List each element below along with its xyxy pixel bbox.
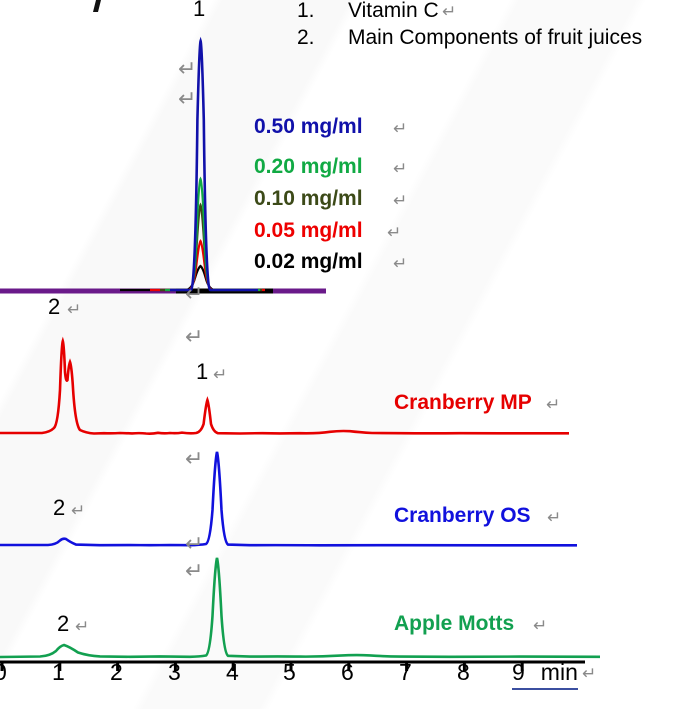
paragraph-mark-icon: ↵ xyxy=(213,366,227,383)
paragraph-mark-icon: ↵ xyxy=(185,326,203,348)
x-axis-unit-group: 9min xyxy=(512,661,578,690)
x-tick-label-8: 8 xyxy=(457,661,470,684)
x-tick-label-1: 1 xyxy=(52,661,65,684)
paragraph-mark-icon: ↵ xyxy=(546,396,560,413)
paragraph-mark-icon: ↵ xyxy=(185,533,203,555)
legend-label-0-02: 0.02 mg/ml xyxy=(254,251,363,272)
trace-0-20-mgml xyxy=(165,179,260,290)
trace-0-10-mgml xyxy=(160,205,262,290)
peak-label-2-cranberry-mp: 2 xyxy=(48,296,60,318)
stray-glyph xyxy=(93,0,101,12)
paragraph-mark-icon: ↵ xyxy=(387,224,401,241)
paragraph-mark-icon: ↵ xyxy=(393,255,407,272)
annotation-list-number-1: 1. xyxy=(297,0,315,21)
x-tick-label-6: 6 xyxy=(341,661,354,684)
sample-label-cranberry-mp: Cranberry MP xyxy=(394,392,532,413)
paragraph-mark-icon: ↵ xyxy=(185,560,203,582)
paragraph-mark-icon: ↵ xyxy=(442,3,456,20)
legend-label-0-50: 0.50 mg/ml xyxy=(254,116,363,137)
peak-label-2-cranberry-os: 2 xyxy=(53,497,65,519)
legend-label-0-05: 0.05 mg/ml xyxy=(254,220,363,241)
trace-cranberry-mp xyxy=(0,341,569,434)
paragraph-mark-icon: ↵ xyxy=(71,502,85,519)
x-tick-label-0: 0 xyxy=(0,661,7,684)
chromatogram-plot xyxy=(0,0,683,709)
peak-label-2-apple-motts: 2 xyxy=(57,613,69,635)
legend-label-0-10: 0.10 mg/ml xyxy=(254,188,363,209)
paragraph-mark-icon: ↵ xyxy=(393,120,407,137)
peak-label-1-cranberry-mp: 1 xyxy=(196,361,208,383)
sample-label-apple-motts: Apple Motts xyxy=(394,613,514,634)
x-tick-label-5: 5 xyxy=(283,661,296,684)
paragraph-mark-icon: ↵ xyxy=(185,283,203,305)
paragraph-mark-icon: ↵ xyxy=(533,617,547,634)
peak-label-1-overlay: 1 xyxy=(193,0,205,20)
paragraph-mark-icon: ↵ xyxy=(582,665,596,682)
x-tick-label-4: 4 xyxy=(226,661,239,684)
trace-apple-motts xyxy=(0,558,600,657)
x-tick-label-7: 7 xyxy=(399,661,412,684)
figure-canvas: 1. Vitamin C ↵ 2. Main Components of fru… xyxy=(0,0,683,709)
paragraph-mark-icon: ↵ xyxy=(67,301,81,318)
paragraph-mark-icon: ↵ xyxy=(75,618,89,635)
trace-cranberry-os xyxy=(0,452,577,545)
x-tick-label-2: 2 xyxy=(110,661,123,684)
paragraph-mark-icon: ↵ xyxy=(178,58,196,80)
annotation-list-number-2: 2. xyxy=(297,27,315,48)
sample-label-cranberry-os: Cranberry OS xyxy=(394,505,531,526)
paragraph-mark-icon: ↵ xyxy=(185,448,203,470)
paragraph-mark-icon: ↵ xyxy=(393,192,407,209)
annotation-list-text-2: Main Components of fruit juices xyxy=(348,27,642,48)
paragraph-mark-icon: ↵ xyxy=(178,88,196,110)
legend-label-0-20: 0.20 mg/ml xyxy=(254,156,363,177)
paragraph-mark-icon: ↵ xyxy=(547,509,561,526)
x-tick-label-9: 9 xyxy=(512,659,525,685)
paragraph-mark-icon: ↵ xyxy=(393,160,407,177)
annotation-list-text-1: Vitamin C xyxy=(348,0,439,21)
x-axis-unit-label: min xyxy=(525,659,578,685)
x-tick-label-3: 3 xyxy=(168,661,181,684)
